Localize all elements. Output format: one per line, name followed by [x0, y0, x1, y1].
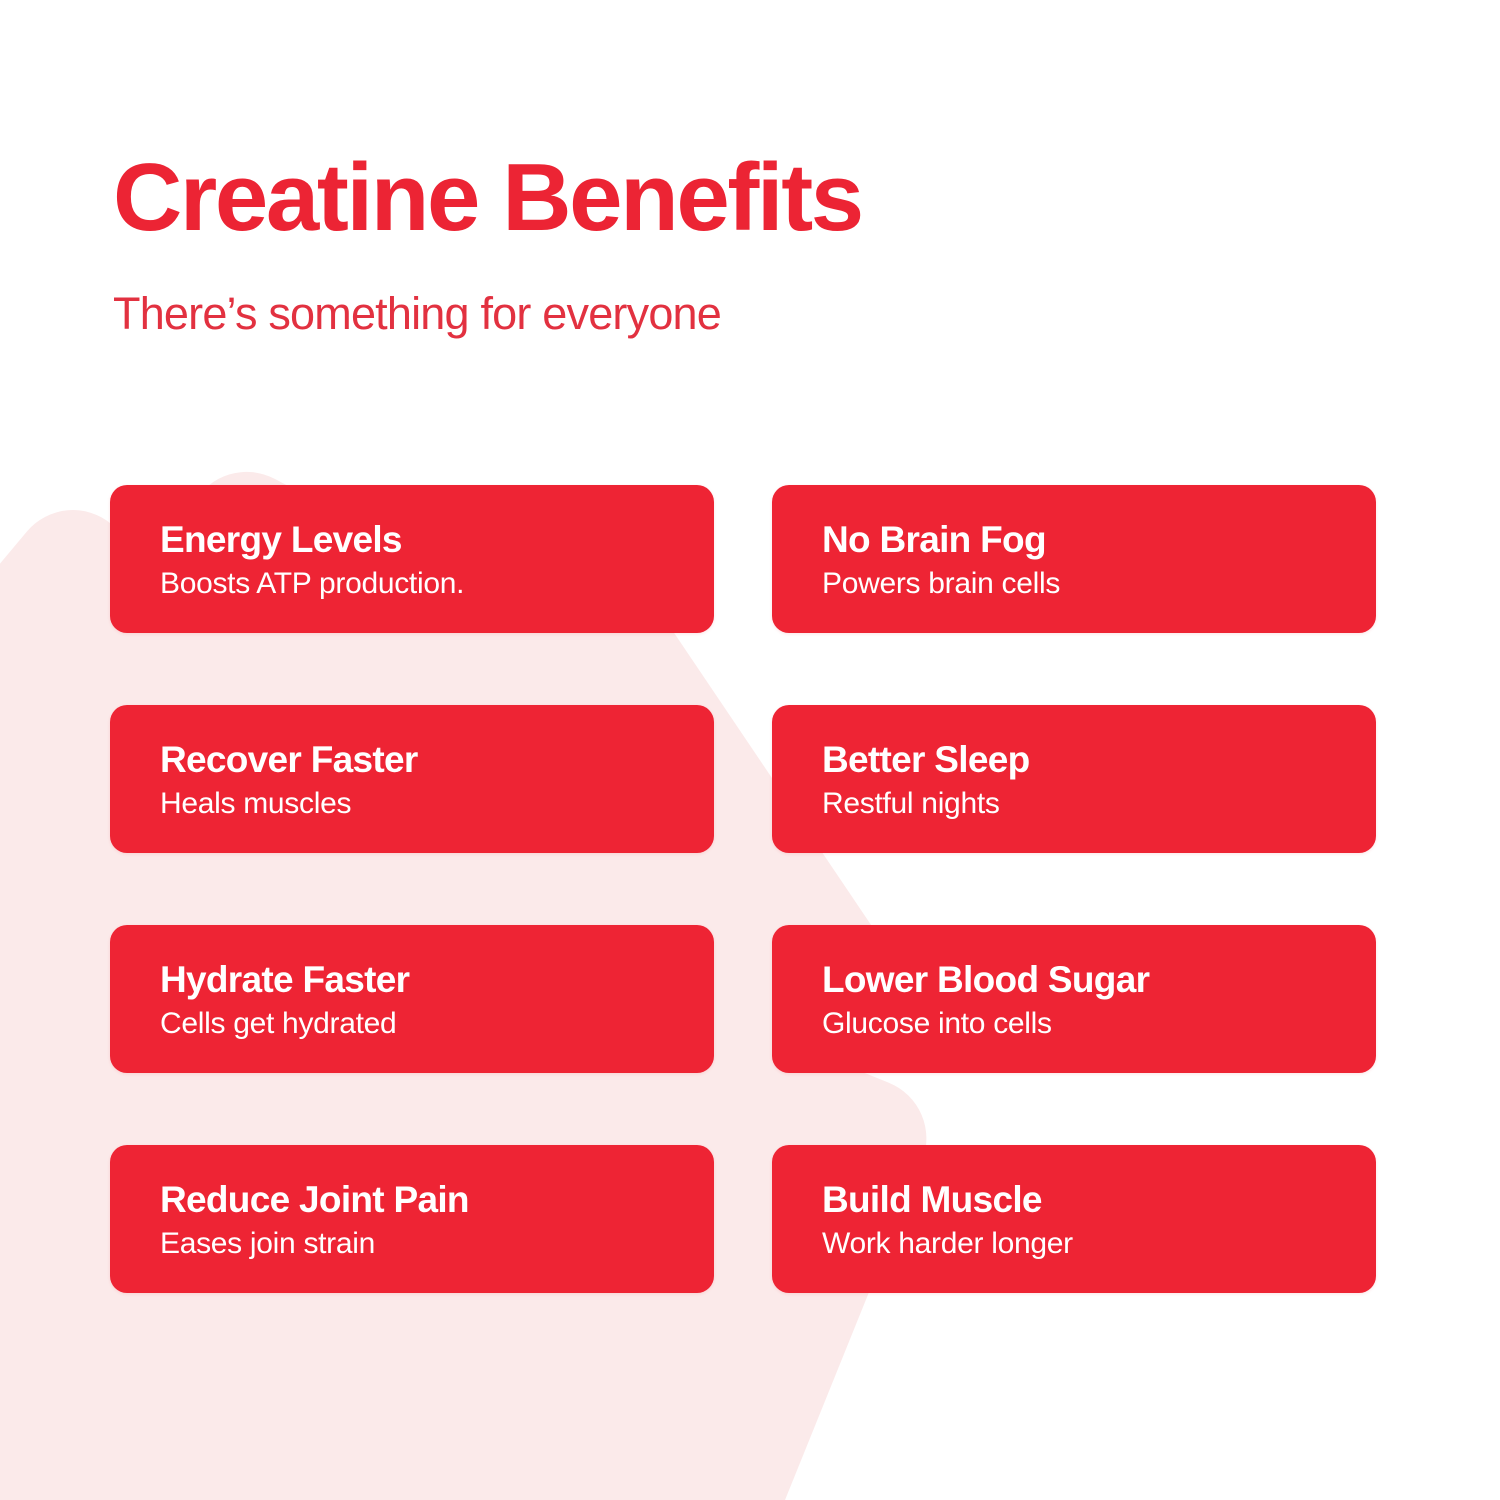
benefit-card-description: Boosts ATP production.	[160, 567, 674, 602]
page-title: Creatine Benefits	[113, 150, 862, 246]
poster-header: Creatine Benefits There’s something for …	[113, 150, 862, 337]
benefit-card-title: Reduce Joint Pain	[160, 1179, 674, 1220]
benefit-card-description: Glucose into cells	[822, 1007, 1336, 1042]
benefit-card-better-sleep[interactable]: Better Sleep Restful nights	[772, 705, 1376, 853]
benefit-card-description: Work harder longer	[822, 1227, 1336, 1262]
benefit-card-title: Lower Blood Sugar	[822, 959, 1336, 1000]
benefit-card-build-muscle[interactable]: Build Muscle Work harder longer	[772, 1145, 1376, 1293]
infographic-poster: Creatine Benefits There’s something for …	[0, 0, 1500, 1500]
benefit-card-title: Energy Levels	[160, 519, 674, 560]
benefit-card-title: No Brain Fog	[822, 519, 1336, 560]
benefit-card-title: Better Sleep	[822, 739, 1336, 780]
benefit-card-description: Powers brain cells	[822, 567, 1336, 602]
benefit-card-description: Eases join strain	[160, 1227, 674, 1262]
benefit-card-hydrate-faster[interactable]: Hydrate Faster Cells get hydrated	[110, 925, 714, 1073]
benefits-grid: Energy Levels Boosts ATP production. No …	[110, 485, 1376, 1293]
benefit-card-description: Restful nights	[822, 787, 1336, 822]
benefit-card-recover-faster[interactable]: Recover Faster Heals muscles	[110, 705, 714, 853]
benefit-card-title: Build Muscle	[822, 1179, 1336, 1220]
page-subtitle: There’s something for everyone	[113, 290, 862, 337]
benefit-card-description: Heals muscles	[160, 787, 674, 822]
benefit-card-title: Recover Faster	[160, 739, 674, 780]
benefit-card-lower-blood-sugar[interactable]: Lower Blood Sugar Glucose into cells	[772, 925, 1376, 1073]
benefit-card-reduce-joint-pain[interactable]: Reduce Joint Pain Eases join strain	[110, 1145, 714, 1293]
benefit-card-energy-levels[interactable]: Energy Levels Boosts ATP production.	[110, 485, 714, 633]
benefit-card-no-brain-fog[interactable]: No Brain Fog Powers brain cells	[772, 485, 1376, 633]
benefit-card-description: Cells get hydrated	[160, 1007, 674, 1042]
benefit-card-title: Hydrate Faster	[160, 959, 674, 1000]
